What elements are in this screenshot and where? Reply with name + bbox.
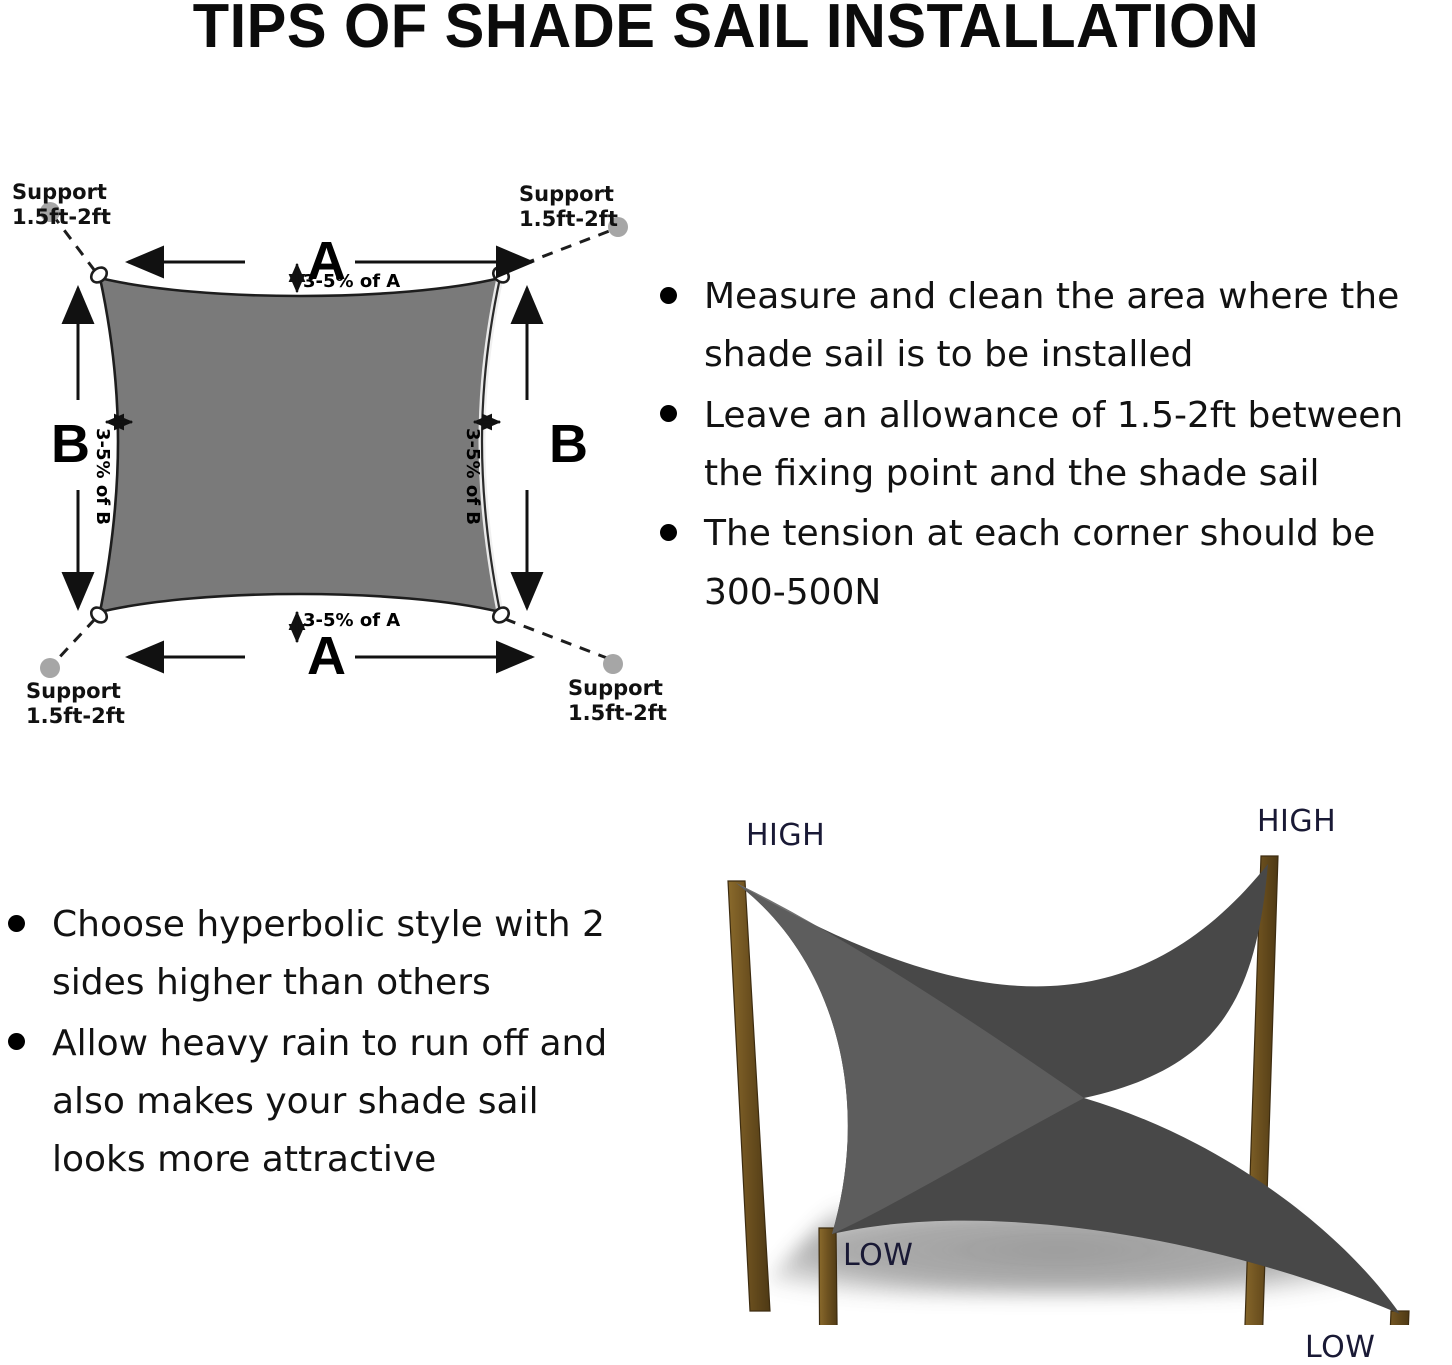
dimension-letter-right: B <box>549 417 588 471</box>
list-item-text: Measure and clean the area where the sha… <box>704 276 1399 375</box>
bullet-dot-icon <box>8 1033 25 1050</box>
support-label-line1: Support <box>26 679 121 703</box>
support-label-line2: 1.5ft-2ft <box>26 704 125 728</box>
list-item: The tension at each corner should be 300… <box>652 505 1452 622</box>
list-item: Allow heavy rain to run off and also mak… <box>0 1015 640 1190</box>
label-high-right: HIGH <box>1257 804 1336 839</box>
post-low-right <box>1380 1311 1409 1325</box>
support-label-top-right: Support 1.5ft-2ft <box>519 182 618 232</box>
support-label-line1: Support <box>519 182 614 206</box>
infographic-page: TIPS OF SHADE SAIL INSTALLATION <box>0 0 1452 1325</box>
label-high-left: HIGH <box>746 818 825 853</box>
list-item-text: Allow heavy rain to run off and also mak… <box>52 1023 607 1181</box>
support-label-line2: 1.5ft-2ft <box>568 701 667 725</box>
hyperbolic-sail-diagram: HIGH HIGH LOW LOW <box>660 798 1452 1325</box>
bullet-dot-icon <box>8 915 25 932</box>
installation-tips-list: Measure and clean the area where the sha… <box>652 268 1452 624</box>
bullet-dot-icon <box>660 524 677 541</box>
list-item-text: The tension at each corner should be 300… <box>704 513 1375 612</box>
rectangular-sail-diagram: Support 1.5ft-2ft Support 1.5ft-2ft Supp… <box>0 160 660 740</box>
support-label-top-left: Support 1.5ft-2ft <box>12 180 111 230</box>
support-label-bottom-left: Support 1.5ft-2ft <box>26 679 125 729</box>
support-label-line1: Support <box>12 180 107 204</box>
label-low-left: LOW <box>843 1238 913 1273</box>
dimension-letter-left: B <box>51 417 90 471</box>
sail-shape <box>100 278 500 612</box>
list-item-text: Choose hyperbolic style with 2 sides hig… <box>52 904 605 1003</box>
curve-note-bottom: 3-5% of A <box>303 610 400 631</box>
bullet-dot-icon <box>660 287 677 304</box>
label-low-right: LOW <box>1305 1330 1375 1365</box>
list-item: Measure and clean the area where the sha… <box>652 268 1452 385</box>
support-label-bottom-right: Support 1.5ft-2ft <box>568 676 667 726</box>
list-item-text: Leave an allowance of 1.5-2ft between th… <box>704 395 1403 494</box>
page-title: TIPS OF SHADE SAIL INSTALLATION <box>29 0 1423 59</box>
support-label-line2: 1.5ft-2ft <box>519 207 618 231</box>
support-label-line2: 1.5ft-2ft <box>12 205 111 229</box>
list-item: Choose hyperbolic style with 2 sides hig… <box>0 896 640 1013</box>
curve-note-right: 3-5% of B <box>462 428 483 525</box>
curve-note-top: 3-5% of A <box>303 271 400 292</box>
post-high-left <box>728 881 770 1311</box>
dimension-letter-bottom: A <box>307 629 346 683</box>
hyperbolic-style-tips-list: Choose hyperbolic style with 2 sides hig… <box>0 896 640 1192</box>
bullet-dot-icon <box>660 405 677 422</box>
support-label-line1: Support <box>568 676 663 700</box>
list-item: Leave an allowance of 1.5-2ft between th… <box>652 387 1452 504</box>
post-low-left <box>819 1228 838 1325</box>
curve-note-left: 3-5% of B <box>92 428 113 525</box>
